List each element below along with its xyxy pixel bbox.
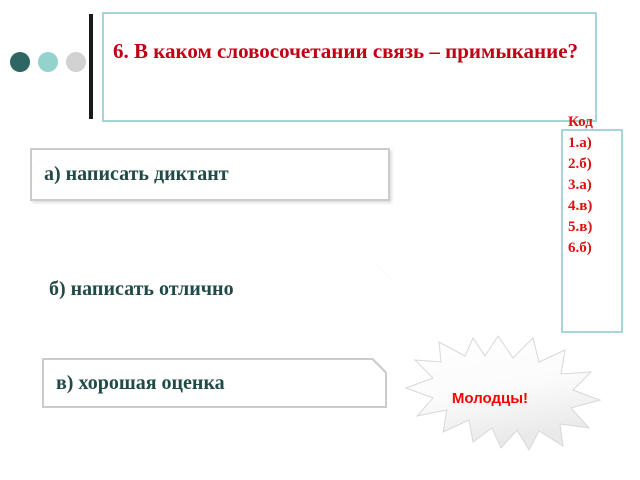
title-accent-bar (89, 14, 93, 119)
code-entry-4: 4.в) (568, 196, 638, 217)
slide-canvas: 6. В каком словосочетании связь – примык… (0, 0, 640, 480)
dot-dark-teal-icon (10, 52, 30, 72)
code-entry-6: 6.б) (568, 238, 638, 259)
code-entry-5: 5.в) (568, 217, 638, 238)
code-panel-title: Код (568, 112, 638, 133)
code-entry-3: 3.а) (568, 175, 638, 196)
question-frame (102, 12, 597, 122)
decorative-dots (10, 52, 90, 76)
answer-option-c-label: в) хорошая оценка (42, 372, 225, 395)
code-panel: Код 1.а) 2.б) 3.а) 4.в) 5.в) 6.б) (568, 112, 638, 259)
code-entry-2: 2.б) (568, 154, 638, 175)
answer-option-c[interactable]: в) хорошая оценка (42, 358, 387, 408)
starburst-shape (393, 332, 603, 452)
code-entry-1: 1.а) (568, 133, 638, 154)
question-text: 6. В каком словосочетании связь – примык… (113, 36, 583, 66)
dot-light-teal-icon (38, 52, 58, 72)
answer-option-b[interactable]: б) написать отлично (35, 264, 390, 314)
answer-option-a-label: а) написать диктант (32, 163, 229, 186)
answer-option-b-label: б) написать отлично (35, 278, 234, 301)
dot-gray-icon (66, 52, 86, 72)
answer-option-a[interactable]: а) написать диктант (30, 148, 390, 201)
